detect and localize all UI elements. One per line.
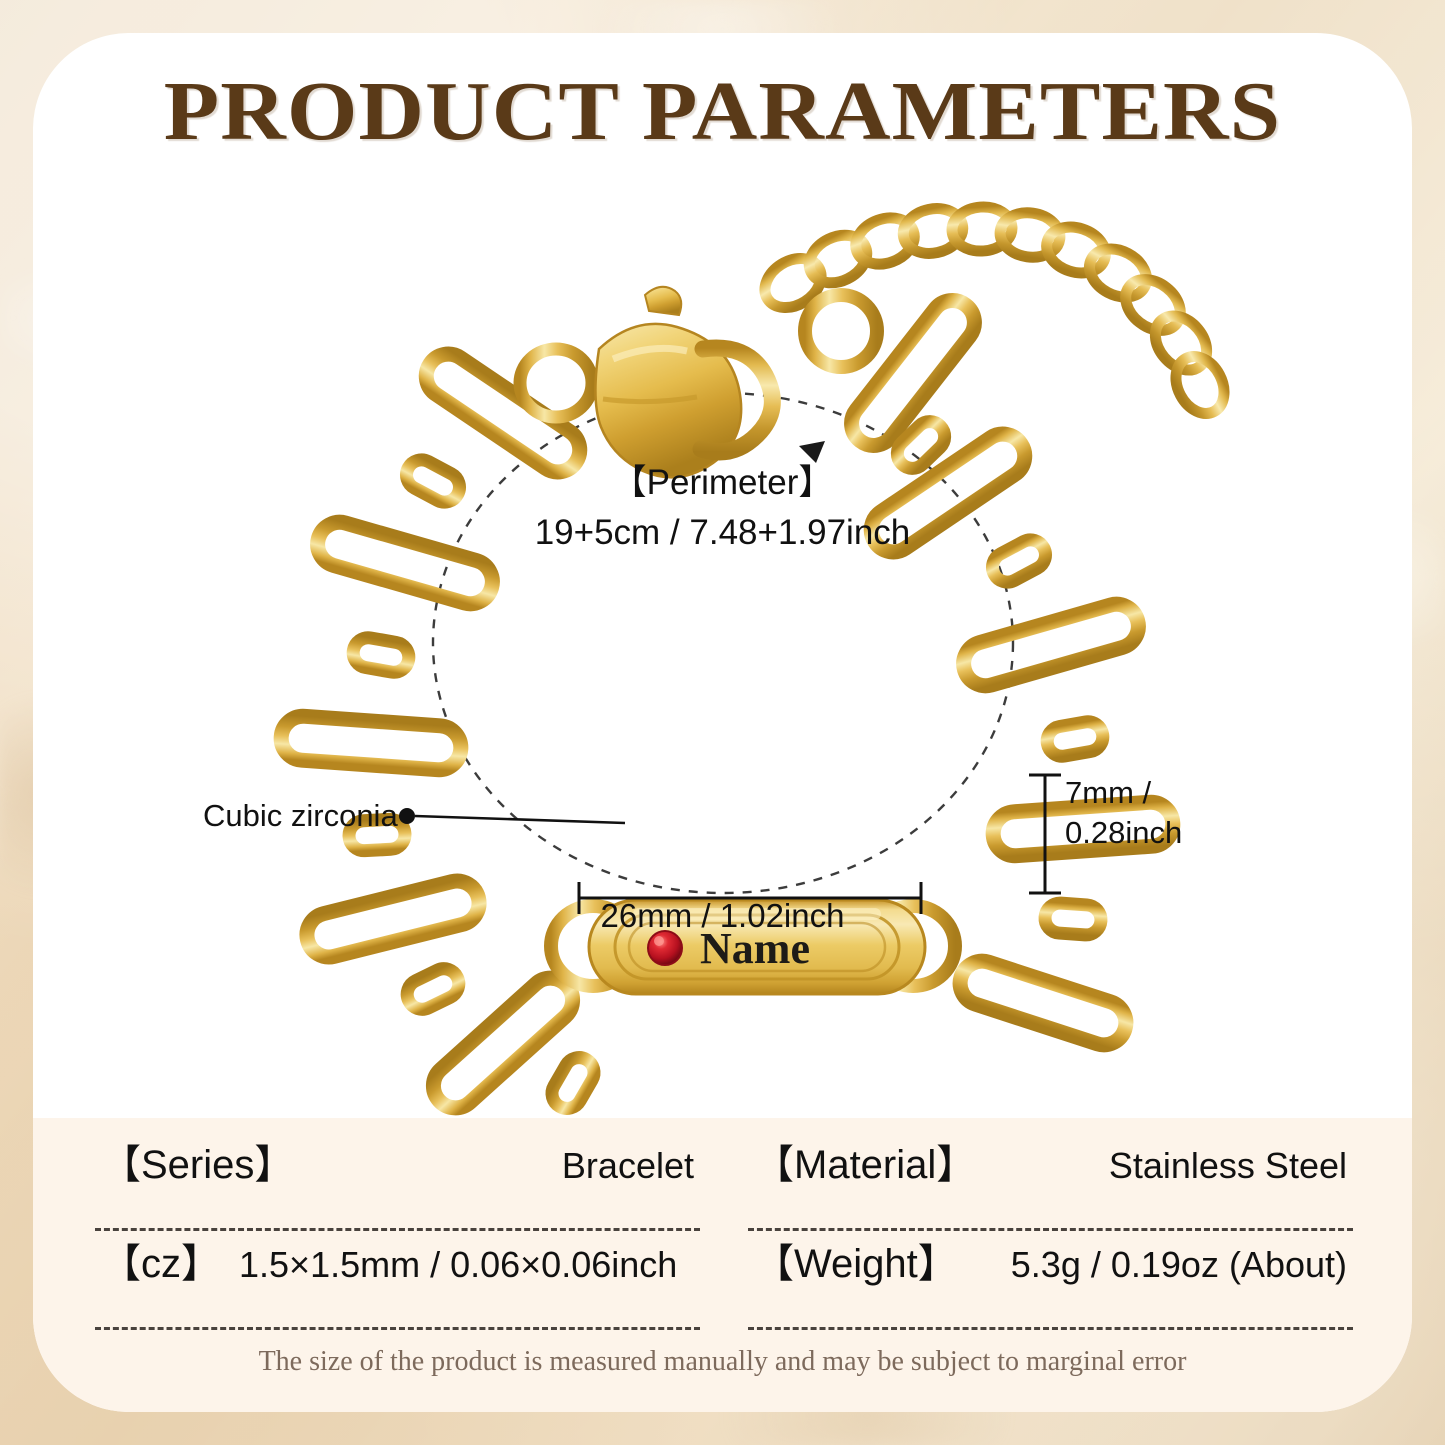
spec-grid: 【Series】 Bracelet 【cz】 1.5×1.5mm / 0.06×… xyxy=(95,1132,1353,1330)
spec-divider-right-1 xyxy=(748,1228,1353,1231)
spec-column-left: 【Series】 Bracelet 【cz】 1.5×1.5mm / 0.06×… xyxy=(95,1132,700,1330)
spec-row-series: 【Series】 Bracelet xyxy=(95,1132,700,1228)
spec-key-cz: 【cz】 xyxy=(101,1231,221,1289)
spec-value-weight: 5.3g / 0.19oz (About) xyxy=(1011,1244,1347,1286)
product-card: PRODUCT PARAMETERS xyxy=(33,33,1412,1412)
page-title: PRODUCT PARAMETERS xyxy=(33,63,1412,160)
height-line-2: 0.28inch xyxy=(1065,813,1182,853)
spec-key-series: 【Series】 xyxy=(101,1132,294,1190)
spec-row-weight: 【Weight】 5.3g / 0.19oz (About) xyxy=(748,1231,1353,1327)
infographic-canvas: PRODUCT PARAMETERS xyxy=(0,0,1445,1445)
lobster-clasp xyxy=(520,287,772,478)
spec-key-weight: 【Weight】 xyxy=(754,1231,958,1289)
spec-column-right: 【Material】 Stainless Steel 【Weight】 5.3g… xyxy=(748,1132,1353,1330)
height-dimension-label: 7mm / 0.28inch xyxy=(1065,773,1182,854)
spec-value-material: Stainless Steel xyxy=(1109,1145,1347,1187)
spec-row-material: 【Material】 Stainless Steel xyxy=(748,1132,1353,1228)
spec-divider-right-2 xyxy=(748,1327,1353,1330)
spec-key-material: 【Material】 xyxy=(754,1132,976,1190)
spec-value-series: Bracelet xyxy=(562,1145,694,1187)
spec-value-cz: 1.5×1.5mm / 0.06×0.06inch xyxy=(239,1244,677,1286)
product-illustration: Name xyxy=(33,163,1412,1118)
spec-divider-left-1 xyxy=(95,1228,700,1231)
spec-row-cz: 【cz】 1.5×1.5mm / 0.06×0.06inch xyxy=(95,1231,700,1327)
spec-divider-left-2 xyxy=(95,1327,700,1330)
cubic-zirconia-label: Cubic zirconia xyxy=(203,798,398,834)
spec-panel: 【Series】 Bracelet 【cz】 1.5×1.5mm / 0.06×… xyxy=(33,1118,1412,1412)
measurement-disclaimer: The size of the product is measured manu… xyxy=(33,1346,1412,1378)
height-line-1: 7mm / xyxy=(1065,773,1182,813)
width-dimension-label: 26mm / 1.02inch xyxy=(33,897,1412,935)
